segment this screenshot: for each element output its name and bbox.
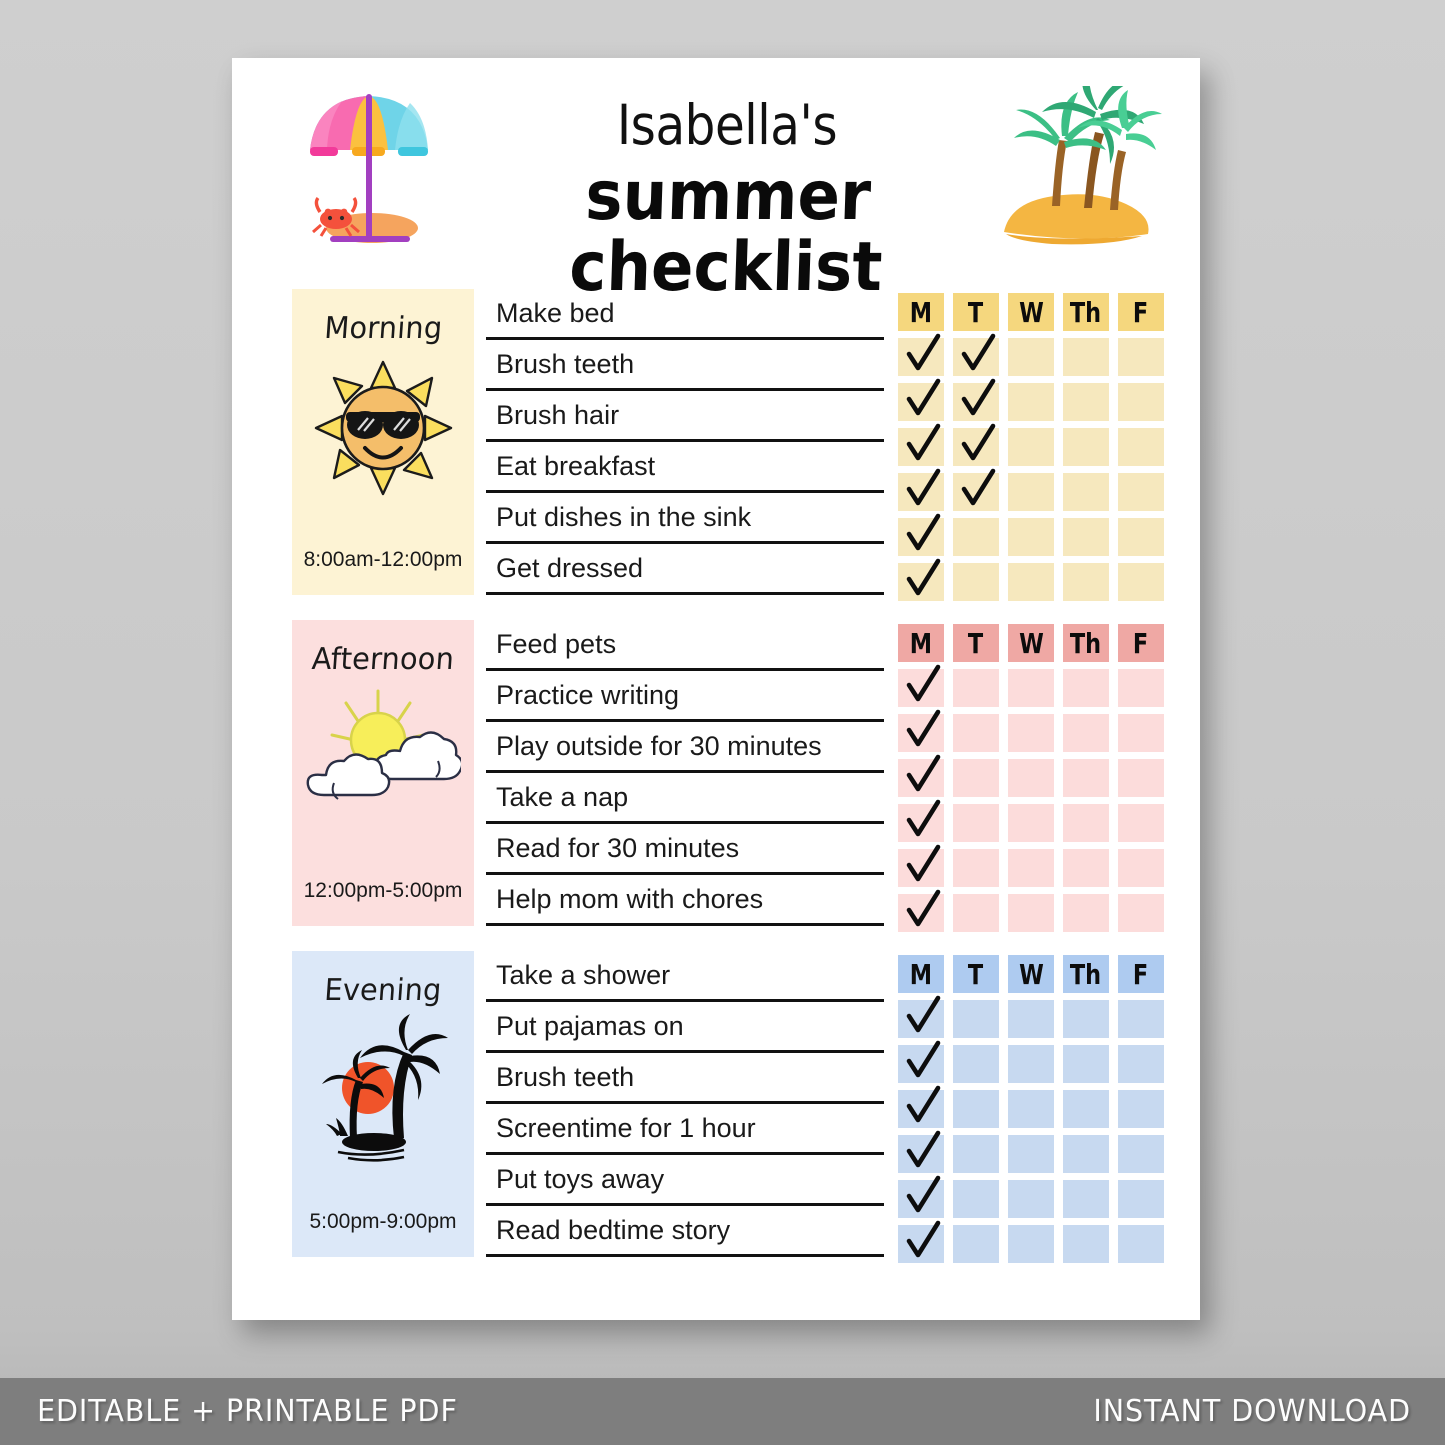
checkmark-icon xyxy=(900,886,946,932)
checkbox-cell[interactable] xyxy=(1063,473,1109,511)
day-header-f: F xyxy=(1118,955,1164,993)
checkbox-cell[interactable] xyxy=(898,338,944,376)
day-header-f: F xyxy=(1118,293,1164,331)
task-label: Screentime for 1 hour xyxy=(496,1113,756,1144)
checkmark-icon xyxy=(900,1127,946,1173)
task-row[interactable]: Brush teeth xyxy=(486,340,884,391)
section-card-afternoon: Afternoon xyxy=(292,620,474,926)
task-label: Brush teeth xyxy=(496,349,634,380)
checkbox-cell[interactable] xyxy=(1063,849,1109,887)
checkbox-cell[interactable] xyxy=(1118,473,1164,511)
grid-header-row: MTWThF xyxy=(898,624,1170,662)
checkbox-cell[interactable] xyxy=(1118,894,1164,932)
checkbox-cell[interactable] xyxy=(1118,759,1164,797)
checkbox-cell[interactable] xyxy=(1118,518,1164,556)
checkbox-cell[interactable] xyxy=(898,849,944,887)
checkbox-cell[interactable] xyxy=(1008,338,1054,376)
task-row[interactable]: Screentime for 1 hour xyxy=(486,1104,884,1155)
checkbox-cell[interactable] xyxy=(953,1225,999,1263)
checkbox-cell[interactable] xyxy=(1063,759,1109,797)
checkbox-cell[interactable] xyxy=(1063,1000,1109,1038)
grid-row xyxy=(898,473,1170,511)
grid-row xyxy=(898,1090,1170,1128)
check-grid-evening: MTWThF xyxy=(898,951,1170,1257)
grid-row xyxy=(898,563,1170,601)
checkbox-cell[interactable] xyxy=(953,1045,999,1083)
checkbox-cell[interactable] xyxy=(1118,1045,1164,1083)
checkmark-icon xyxy=(900,465,946,511)
grid-row xyxy=(898,338,1170,376)
day-header-w: W xyxy=(1008,293,1054,331)
day-header-w: W xyxy=(1008,955,1054,993)
sun-behind-clouds-icon xyxy=(306,683,461,823)
section-morning: Morning xyxy=(232,289,1200,595)
section-title: Evening xyxy=(323,973,443,1008)
printable-page: Isabella's summer checklist xyxy=(232,58,1200,1320)
checkbox-cell[interactable] xyxy=(1118,804,1164,842)
checkmark-icon xyxy=(900,796,946,842)
checkbox-cell[interactable] xyxy=(1008,428,1054,466)
task-label: Put toys away xyxy=(496,1164,664,1195)
grid-row xyxy=(898,1000,1170,1038)
checkbox-cell[interactable] xyxy=(953,518,999,556)
checkbox-cell[interactable] xyxy=(1118,669,1164,707)
task-row[interactable]: Eat breakfast xyxy=(486,442,884,493)
palm-tree-island-icon xyxy=(992,86,1162,251)
checkbox-cell[interactable] xyxy=(1008,1045,1054,1083)
task-row[interactable]: Take a shower xyxy=(486,951,884,1002)
grid-row xyxy=(898,1225,1170,1263)
task-label: Put pajamas on xyxy=(496,1011,684,1042)
checkbox-cell[interactable] xyxy=(1118,428,1164,466)
grid-row xyxy=(898,669,1170,707)
checkbox-cell[interactable] xyxy=(1118,1000,1164,1038)
task-row[interactable]: Play outside for 30 minutes xyxy=(486,722,884,773)
checkbox-cell[interactable] xyxy=(1063,1135,1109,1173)
checkbox-cell[interactable] xyxy=(1008,669,1054,707)
checkmark-icon xyxy=(900,1217,946,1263)
checkmark-icon xyxy=(900,751,946,797)
checkbox-cell[interactable] xyxy=(898,473,944,511)
checkbox-cell[interactable] xyxy=(953,804,999,842)
checkbox-cell[interactable] xyxy=(898,428,944,466)
checkmark-icon xyxy=(900,1172,946,1218)
checkbox-cell[interactable] xyxy=(898,563,944,601)
checkbox-cell[interactable] xyxy=(1063,563,1109,601)
checkbox-cell[interactable] xyxy=(898,1045,944,1083)
checkbox-cell[interactable] xyxy=(1118,338,1164,376)
checkbox-cell[interactable] xyxy=(1008,849,1054,887)
beach-umbrella-icon xyxy=(294,88,444,248)
task-row[interactable]: Get dressed xyxy=(486,544,884,595)
checkbox-cell[interactable] xyxy=(953,849,999,887)
day-header-m: M xyxy=(898,624,944,662)
checkbox-cell[interactable] xyxy=(1118,563,1164,601)
footer-bar: EDITABLE + PRINTABLE PDF INSTANT DOWNLOA… xyxy=(0,1378,1445,1445)
checkbox-cell[interactable] xyxy=(1118,1135,1164,1173)
checkmark-icon xyxy=(900,330,946,376)
checkbox-cell[interactable] xyxy=(1063,669,1109,707)
footer-right-label: INSTANT DOWNLOAD xyxy=(1093,1394,1411,1429)
checkbox-cell[interactable] xyxy=(1063,1090,1109,1128)
checkbox-cell[interactable] xyxy=(898,804,944,842)
task-row[interactable]: Feed pets xyxy=(486,620,884,671)
checkbox-cell[interactable] xyxy=(1063,714,1109,752)
checkbox-cell[interactable] xyxy=(953,383,999,421)
checkbox-cell[interactable] xyxy=(953,1180,999,1218)
section-title: Afternoon xyxy=(311,642,456,677)
checkbox-cell[interactable] xyxy=(1008,894,1054,932)
checkbox-cell[interactable] xyxy=(1008,714,1054,752)
section-time: 12:00pm-5:00pm xyxy=(292,879,474,903)
checkbox-cell[interactable] xyxy=(1008,563,1054,601)
title-name-line: Isabella's xyxy=(481,98,974,153)
checkmark-icon xyxy=(900,1082,946,1128)
checkmark-icon xyxy=(900,555,946,601)
task-row[interactable]: Practice writing xyxy=(486,671,884,722)
checkbox-cell[interactable] xyxy=(953,759,999,797)
task-label: Brush teeth xyxy=(496,1062,634,1093)
palm-trees-sunset-icon xyxy=(308,1014,458,1164)
checkbox-cell[interactable] xyxy=(1063,518,1109,556)
checkbox-cell[interactable] xyxy=(898,1000,944,1038)
task-row[interactable]: Brush hair xyxy=(486,391,884,442)
grid-row xyxy=(898,714,1170,752)
checkmark-icon xyxy=(955,330,1001,376)
grid-row xyxy=(898,1045,1170,1083)
checkbox-cell[interactable] xyxy=(1008,518,1054,556)
checkbox-cell[interactable] xyxy=(1008,1225,1054,1263)
day-header-th: Th xyxy=(1063,293,1109,331)
task-label: Get dressed xyxy=(496,553,643,584)
grid-row xyxy=(898,894,1170,932)
checkmark-icon xyxy=(900,841,946,887)
checkbox-cell[interactable] xyxy=(1118,1090,1164,1128)
day-header-w: W xyxy=(1008,624,1054,662)
checkbox-cell[interactable] xyxy=(1118,849,1164,887)
checkbox-cell[interactable] xyxy=(898,759,944,797)
checkbox-cell[interactable] xyxy=(1063,1225,1109,1263)
day-header-th: Th xyxy=(1063,955,1109,993)
task-label: Take a shower xyxy=(496,960,670,991)
section-time: 5:00pm-9:00pm xyxy=(292,1210,474,1234)
checkbox-cell[interactable] xyxy=(953,563,999,601)
checkmark-icon xyxy=(900,661,946,707)
checkbox-cell[interactable] xyxy=(1008,473,1054,511)
checkbox-cell[interactable] xyxy=(1063,383,1109,421)
task-list-afternoon: Feed pets Practice writing Play outside … xyxy=(474,620,898,926)
sun-with-sunglasses-icon xyxy=(308,352,458,502)
checkmark-icon xyxy=(900,375,946,421)
checkbox-cell[interactable] xyxy=(1008,383,1054,421)
task-row[interactable]: Help mom with chores xyxy=(486,875,884,926)
task-row[interactable]: Brush teeth xyxy=(486,1053,884,1104)
task-label: Practice writing xyxy=(496,680,679,711)
checkmark-icon xyxy=(955,375,1001,421)
title-main-line: summer checklist xyxy=(467,161,987,304)
day-header-t: T xyxy=(953,624,999,662)
day-header-th: Th xyxy=(1063,624,1109,662)
checkbox-cell[interactable] xyxy=(898,714,944,752)
task-label: Read bedtime story xyxy=(496,1215,730,1246)
checkbox-cell[interactable] xyxy=(898,383,944,421)
checkmark-icon xyxy=(900,420,946,466)
checkbox-cell[interactable] xyxy=(1008,759,1054,797)
checkbox-cell[interactable] xyxy=(898,1225,944,1263)
task-label: Put dishes in the sink xyxy=(496,502,751,533)
page-header: Isabella's summer checklist xyxy=(232,58,1200,273)
check-grid-afternoon: MTWThF xyxy=(898,620,1170,926)
checkbox-cell[interactable] xyxy=(1063,338,1109,376)
checkbox-cell[interactable] xyxy=(1063,894,1109,932)
page-title: Isabella's summer checklist xyxy=(447,98,1007,304)
check-grid-morning: MTWThF xyxy=(898,289,1170,595)
task-row[interactable]: Read for 30 minutes xyxy=(486,824,884,875)
checkbox-cell[interactable] xyxy=(898,669,944,707)
checkbox-cell[interactable] xyxy=(953,714,999,752)
checkbox-cell[interactable] xyxy=(1008,804,1054,842)
grid-row xyxy=(898,759,1170,797)
checkbox-cell[interactable] xyxy=(898,894,944,932)
checkbox-cell[interactable] xyxy=(1063,804,1109,842)
checkbox-cell[interactable] xyxy=(1118,1225,1164,1263)
checkmark-icon xyxy=(900,1037,946,1083)
checkbox-cell[interactable] xyxy=(953,473,999,511)
task-label: Read for 30 minutes xyxy=(496,833,739,864)
checkmark-icon xyxy=(900,510,946,556)
checkbox-cell[interactable] xyxy=(898,1135,944,1173)
task-row[interactable]: Put dishes in the sink xyxy=(486,493,884,544)
day-header-f: F xyxy=(1118,624,1164,662)
checkbox-cell[interactable] xyxy=(1008,1000,1054,1038)
checkmark-icon xyxy=(900,706,946,752)
checkbox-cell[interactable] xyxy=(1118,383,1164,421)
checkbox-cell[interactable] xyxy=(1063,428,1109,466)
checkmark-icon xyxy=(955,420,1001,466)
grid-row xyxy=(898,1180,1170,1218)
checkbox-cell[interactable] xyxy=(1008,1180,1054,1218)
task-row[interactable]: Read bedtime story xyxy=(486,1206,884,1257)
grid-row xyxy=(898,428,1170,466)
checkbox-cell[interactable] xyxy=(898,518,944,556)
grid-row xyxy=(898,849,1170,887)
grid-row xyxy=(898,518,1170,556)
checkbox-cell[interactable] xyxy=(1008,1135,1054,1173)
task-label: Play outside for 30 minutes xyxy=(496,731,822,762)
checkbox-cell[interactable] xyxy=(953,669,999,707)
grid-row xyxy=(898,804,1170,842)
task-label: Feed pets xyxy=(496,629,616,660)
task-list-morning: Make bed Brush teeth Brush hair Eat brea… xyxy=(474,289,898,595)
checkbox-cell[interactable] xyxy=(953,1135,999,1173)
section-card-morning: Morning xyxy=(292,289,474,595)
grid-header-row: MTWThF xyxy=(898,955,1170,993)
checkbox-cell[interactable] xyxy=(953,428,999,466)
checkbox-cell[interactable] xyxy=(1118,714,1164,752)
checkbox-cell[interactable] xyxy=(1063,1180,1109,1218)
task-row[interactable]: Take a nap xyxy=(486,773,884,824)
grid-row xyxy=(898,1135,1170,1173)
day-header-t: T xyxy=(953,955,999,993)
task-label: Take a nap xyxy=(496,782,628,813)
task-label: Eat breakfast xyxy=(496,451,655,482)
section-afternoon: Afternoon xyxy=(232,620,1200,926)
grid-row xyxy=(898,383,1170,421)
day-header-m: M xyxy=(898,955,944,993)
section-evening: Evening xyxy=(232,951,1200,1257)
checkbox-cell[interactable] xyxy=(898,1180,944,1218)
task-label: Help mom with chores xyxy=(496,884,763,915)
task-list-evening: Take a shower Put pajamas on Brush teeth… xyxy=(474,951,898,1257)
checkbox-cell[interactable] xyxy=(1063,1045,1109,1083)
checkbox-cell[interactable] xyxy=(953,338,999,376)
checkmark-icon xyxy=(955,465,1001,511)
checkbox-cell[interactable] xyxy=(953,1000,999,1038)
task-row[interactable]: Put toys away xyxy=(486,1155,884,1206)
checkbox-cell[interactable] xyxy=(1008,1090,1054,1128)
checkbox-cell[interactable] xyxy=(898,1090,944,1128)
section-card-evening: Evening xyxy=(292,951,474,1257)
task-row[interactable]: Put pajamas on xyxy=(486,1002,884,1053)
task-label: Brush hair xyxy=(496,400,619,431)
checkbox-cell[interactable] xyxy=(1118,1180,1164,1218)
checkbox-cell[interactable] xyxy=(953,894,999,932)
section-time: 8:00am-12:00pm xyxy=(292,548,474,572)
checkmark-icon xyxy=(900,992,946,1038)
checkbox-cell[interactable] xyxy=(953,1090,999,1128)
section-title: Morning xyxy=(323,311,443,346)
footer-left-label: EDITABLE + PRINTABLE PDF xyxy=(37,1394,458,1429)
